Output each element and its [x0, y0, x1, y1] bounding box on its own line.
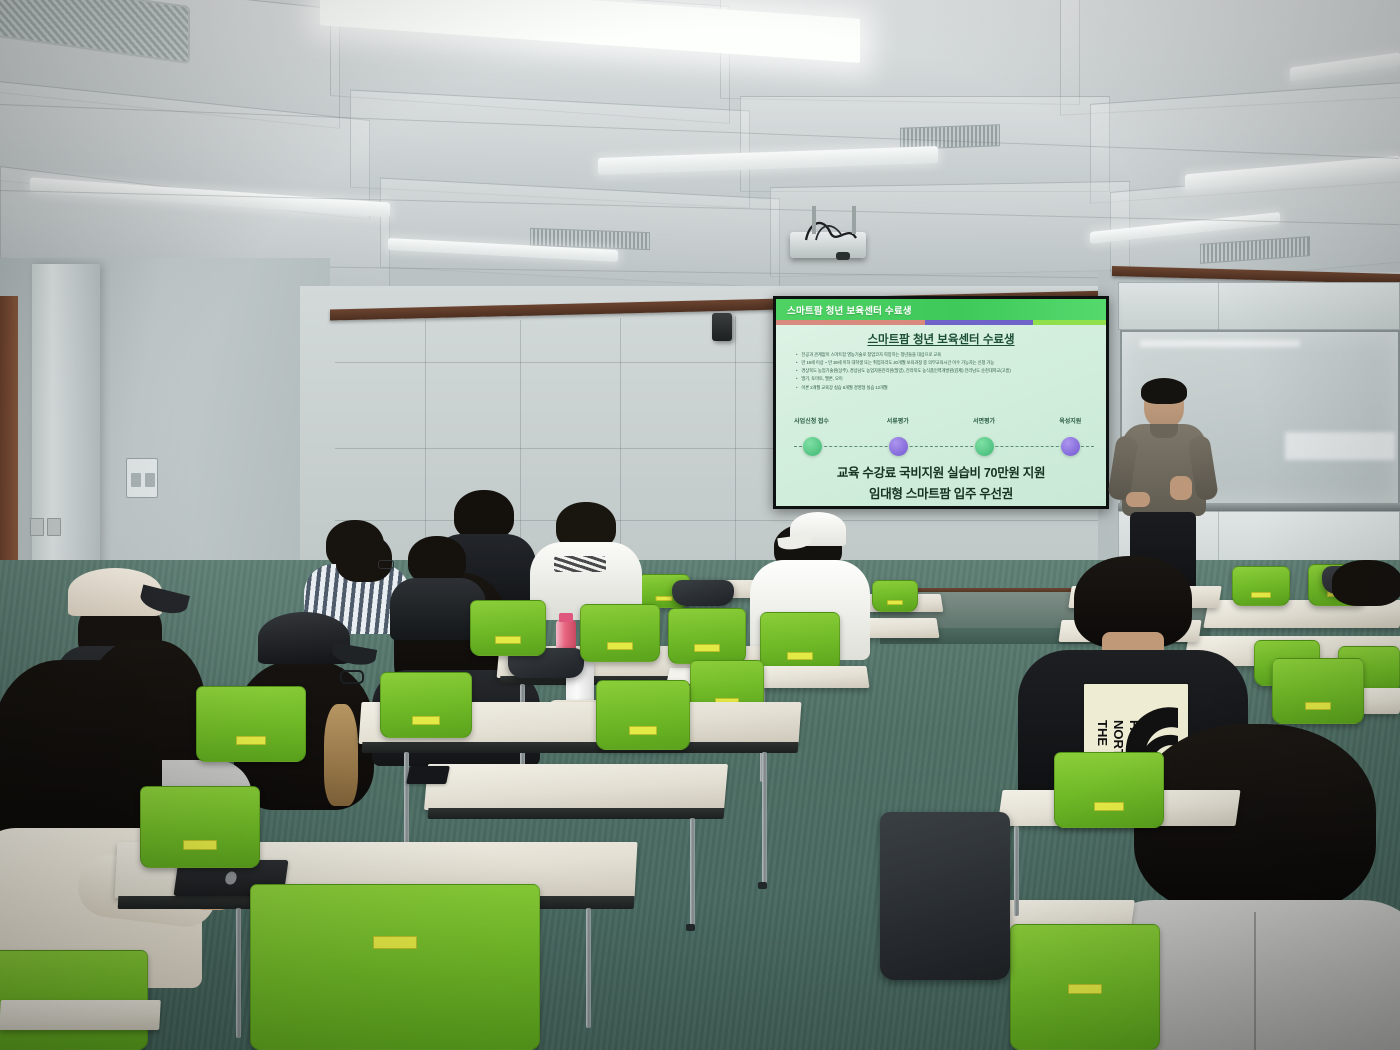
timeline-connector	[794, 446, 1094, 447]
chair-label-tag	[183, 840, 217, 850]
desk	[758, 666, 869, 688]
desk-leg	[762, 752, 767, 884]
projector-lens	[836, 252, 850, 260]
chair-label-tag	[495, 636, 521, 644]
whiteboard-glare	[1285, 432, 1395, 460]
bullet-text: 이론 2개월 교육장 실습 6개월 경영형 실습 12개월	[801, 384, 887, 392]
chair-label-tag	[787, 652, 813, 660]
chair	[140, 786, 260, 868]
chair-back	[668, 608, 746, 664]
bullet-dot-icon: •	[796, 359, 797, 367]
chair	[760, 612, 840, 672]
projector-cables-icon	[800, 212, 870, 242]
slide-bullet: •만 19세 이상 ~ 만 39세 이하 대학생 또는 취업자라도 20개월 보…	[796, 359, 1096, 367]
bullet-dot-icon: •	[796, 384, 797, 392]
projector-mount	[852, 206, 856, 234]
chair-label-tag	[887, 600, 903, 605]
chair-back	[596, 680, 690, 750]
student-hair	[454, 490, 514, 540]
backpack	[880, 812, 1010, 980]
desk-leg	[690, 818, 695, 926]
slide-header-bar: 스마트팜 청년 보육센터 수료생	[776, 299, 1106, 320]
accent-bar-salmon	[776, 320, 925, 325]
slide-bullet: •이론 2개월 교육장 실습 6개월 경영형 실습 12개월	[796, 384, 1096, 392]
bullet-dot-icon: •	[796, 367, 797, 375]
desk-foot	[686, 924, 695, 931]
timeline-node	[1061, 437, 1080, 456]
chair-back	[470, 600, 546, 656]
presenter-collar	[1150, 424, 1178, 438]
slide-bullet: •경상북도 농업기술원(상주), 경상남도 농업자원관리원(밀양), 전라북도 …	[796, 367, 1096, 375]
chair-label-tag	[694, 644, 720, 652]
light-switch-panel[interactable]	[126, 458, 158, 498]
chair-back	[1272, 658, 1364, 724]
switch-toggle[interactable]	[131, 473, 141, 487]
chair-label-tag	[1068, 984, 1102, 994]
glasses-icon	[340, 670, 364, 684]
bullet-dot-icon: •	[796, 351, 797, 359]
chair-label-tag	[1305, 702, 1331, 710]
backpack	[672, 580, 734, 606]
chair-label-tag	[373, 936, 417, 949]
bullet-text: 딸기, 토마토, 멜론, 오이	[801, 375, 842, 383]
timeline-node	[889, 437, 908, 456]
desk-leg	[586, 908, 591, 1028]
presentation-slide: 스마트팜 청년 보육센터 수료생 스마트팜 청년 보육센터 수료생 •전공과 관…	[776, 299, 1106, 506]
whiteboard-glare	[1140, 340, 1300, 347]
chair-label-tag	[607, 642, 633, 650]
timeline-node	[803, 437, 822, 456]
wall-speaker	[712, 313, 732, 341]
slide-title: 스마트팜 청년 보육센터 수료생	[776, 331, 1106, 347]
student-right-edge	[1332, 560, 1400, 630]
chair-back	[1054, 752, 1164, 828]
chair-label-tag	[1094, 802, 1124, 811]
hoodie-seam	[1254, 912, 1256, 1050]
chair-label-tag	[236, 736, 266, 745]
bottle-cap	[559, 613, 573, 622]
presenter-left-hand	[1126, 492, 1150, 507]
timeline-label: 서류평가	[887, 416, 909, 425]
switch-toggle[interactable]	[145, 473, 155, 487]
chair	[380, 672, 472, 738]
desk-edge	[362, 742, 799, 753]
chair-back	[872, 580, 918, 612]
slide-footer-line-2: 임대형 스마트팜 입주 우선권	[776, 483, 1106, 502]
desk-leg	[1014, 826, 1019, 916]
desk-edge	[428, 808, 725, 819]
chair	[470, 600, 546, 656]
chair	[872, 580, 918, 612]
bullet-text: 전공과 관계없이 스마트팜 영농기술로 창업코자 희망하는 청년들을 대상으로 …	[801, 351, 941, 359]
chair-label-tag	[412, 716, 440, 725]
chair	[196, 686, 306, 762]
bullet-text: 경상북도 농업기술원(상주), 경상남도 농업자원관리원(밀양), 전라북도 농…	[801, 367, 1010, 375]
slide-timeline: 사업신청 접수 서류평가 서면평가 육성지원	[790, 413, 1098, 459]
desk	[0, 1000, 161, 1030]
desk-leg	[236, 908, 241, 1038]
student-hair	[1332, 560, 1400, 606]
chair	[668, 608, 746, 664]
slide-footer-line-1: 교육 수강료 국비지원 실습비 70만원 지원	[776, 462, 1106, 481]
wall-outlet	[30, 518, 44, 536]
student-hair	[408, 536, 466, 584]
hair-highlight	[324, 704, 358, 806]
chair-back	[380, 672, 472, 738]
timeline-node	[975, 437, 994, 456]
chair	[250, 884, 540, 1050]
chair	[1272, 658, 1364, 724]
cabinet-seam	[1218, 282, 1219, 330]
slide-accent-bars	[776, 320, 1106, 325]
presenter-right-hand	[1170, 476, 1192, 500]
accent-bar-purple	[925, 320, 1034, 325]
chair	[596, 680, 690, 750]
desk	[424, 764, 728, 810]
chair	[1010, 924, 1160, 1050]
chair	[580, 604, 660, 662]
smartphone	[406, 766, 450, 784]
timeline-label: 서면평가	[973, 416, 995, 425]
bullet-text: 만 19세 이상 ~ 만 39세 이하 대학생 또는 취업자라도 20개월 보육…	[801, 359, 994, 367]
chair-back	[250, 884, 540, 1050]
projection-screen: 스마트팜 청년 보육센터 수료생 스마트팜 청년 보육센터 수료생 •전공과 관…	[773, 296, 1109, 509]
timeline-label: 육성지원	[1059, 416, 1081, 425]
chair-back	[140, 786, 260, 868]
chair-back	[760, 612, 840, 672]
upper-cabinet	[1118, 282, 1400, 330]
chair	[1054, 752, 1164, 828]
chair-back	[196, 686, 306, 762]
tee-graphic	[554, 556, 606, 572]
slide-header-label: 스마트팜 청년 보육센터 수료생	[776, 303, 912, 317]
wall-outlet	[47, 518, 61, 536]
classroom-photo-scene: 스마트팜 청년 보육센터 수료생 스마트팜 청년 보육센터 수료생 •전공과 관…	[0, 0, 1400, 1050]
student-white-printed-tee	[530, 502, 642, 617]
presenter-hair	[1141, 378, 1187, 404]
slide-bullet-list: •전공과 관계없이 스마트팜 영농기술로 창업코자 희망하는 청년들을 대상으로…	[796, 351, 1096, 392]
slide-bullet: •전공과 관계없이 스마트팜 영농기술로 창업코자 희망하는 청년들을 대상으로…	[796, 351, 1096, 359]
chair-label-tag	[629, 726, 657, 735]
chair-label-tag	[1251, 592, 1271, 598]
desk-foot	[758, 882, 767, 889]
accent-bar-lime	[1033, 320, 1106, 325]
timeline-label: 사업신청 접수	[794, 416, 829, 425]
chair-back	[580, 604, 660, 662]
bullet-dot-icon: •	[796, 375, 797, 383]
chair-label-tag	[656, 596, 673, 601]
projector-mount	[812, 206, 816, 234]
slide-bullet: •딸기, 토마토, 멜론, 오이	[796, 375, 1096, 383]
